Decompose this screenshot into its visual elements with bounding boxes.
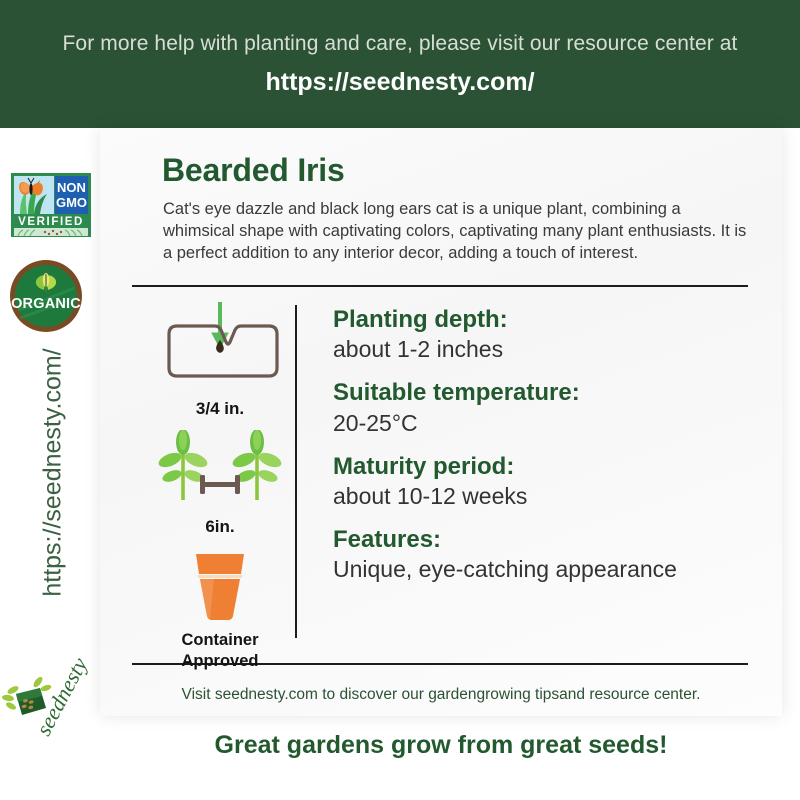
plant-spacing-block: 6in. [150, 430, 290, 536]
spec-value: Unique, eye-catching appearance [333, 555, 753, 583]
specs-list: Planting depth: about 1-2 inches Suitabl… [333, 306, 753, 583]
spec-maturity-period: Maturity period: about 10-12 weeks [333, 453, 753, 510]
spec-features: Features: Unique, eye-catching appearanc… [333, 526, 753, 583]
plant-spacing-icon [155, 430, 285, 510]
product-description: Cat's eye dazzle and black long ears cat… [163, 199, 753, 264]
left-rail: NON GMO VERIFIED [0, 128, 100, 800]
spec-planting-depth: Planting depth: about 1-2 inches [333, 306, 753, 363]
organic-icon: ORGANIC [8, 258, 84, 334]
seed-depth-caption: 3/4 in. [150, 399, 290, 418]
spec-suitable-temperature: Suitable temperature: 20-25°C [333, 379, 753, 436]
spec-label: Suitable temperature: [333, 379, 753, 407]
container-approved-block: Container Approved [150, 550, 290, 670]
plant-spacing-caption: 6in. [150, 517, 290, 536]
header-banner: For more help with planting and care, pl… [0, 0, 800, 128]
non-gmo-verified-icon: NON GMO VERIFIED [8, 170, 94, 240]
non-gmo-line1: NON [57, 180, 86, 195]
spec-label: Features: [333, 526, 753, 554]
container-approved-caption-line1: Container [150, 631, 290, 649]
container-approved-caption-line2: Approved [150, 652, 290, 670]
spec-label: Planting depth: [333, 306, 753, 334]
non-gmo-line2: GMO [56, 195, 87, 210]
container-pot-icon [155, 550, 285, 624]
header-help-text: For more help with planting and care, pl… [63, 31, 738, 56]
planting-icon-column: 3/4 in. [150, 300, 290, 670]
non-gmo-line3: VERIFIED [18, 216, 84, 228]
header-website-url[interactable]: https://seednesty.com/ [265, 68, 534, 97]
spec-value: 20-25°C [333, 409, 753, 437]
page-title: Bearded Iris [162, 152, 345, 189]
spec-value: about 1-2 inches [333, 335, 753, 363]
tagline: Great gardens grow from great seeds! [100, 731, 782, 760]
card-footer-note: Visit seednesty.com to discover our gard… [100, 686, 782, 704]
seednesty-logo: seednesty [2, 658, 98, 740]
seed-depth-block: 3/4 in. [150, 300, 290, 418]
seed-depth-icon [155, 300, 285, 392]
spec-label: Maturity period: [333, 453, 753, 481]
divider-vertical [295, 305, 297, 638]
divider-top [132, 285, 748, 287]
spec-value: about 10-12 weeks [333, 482, 753, 510]
sidebar-vertical-url[interactable]: https://seednesty.com/ [39, 338, 68, 608]
organic-label: ORGANIC [11, 296, 81, 312]
